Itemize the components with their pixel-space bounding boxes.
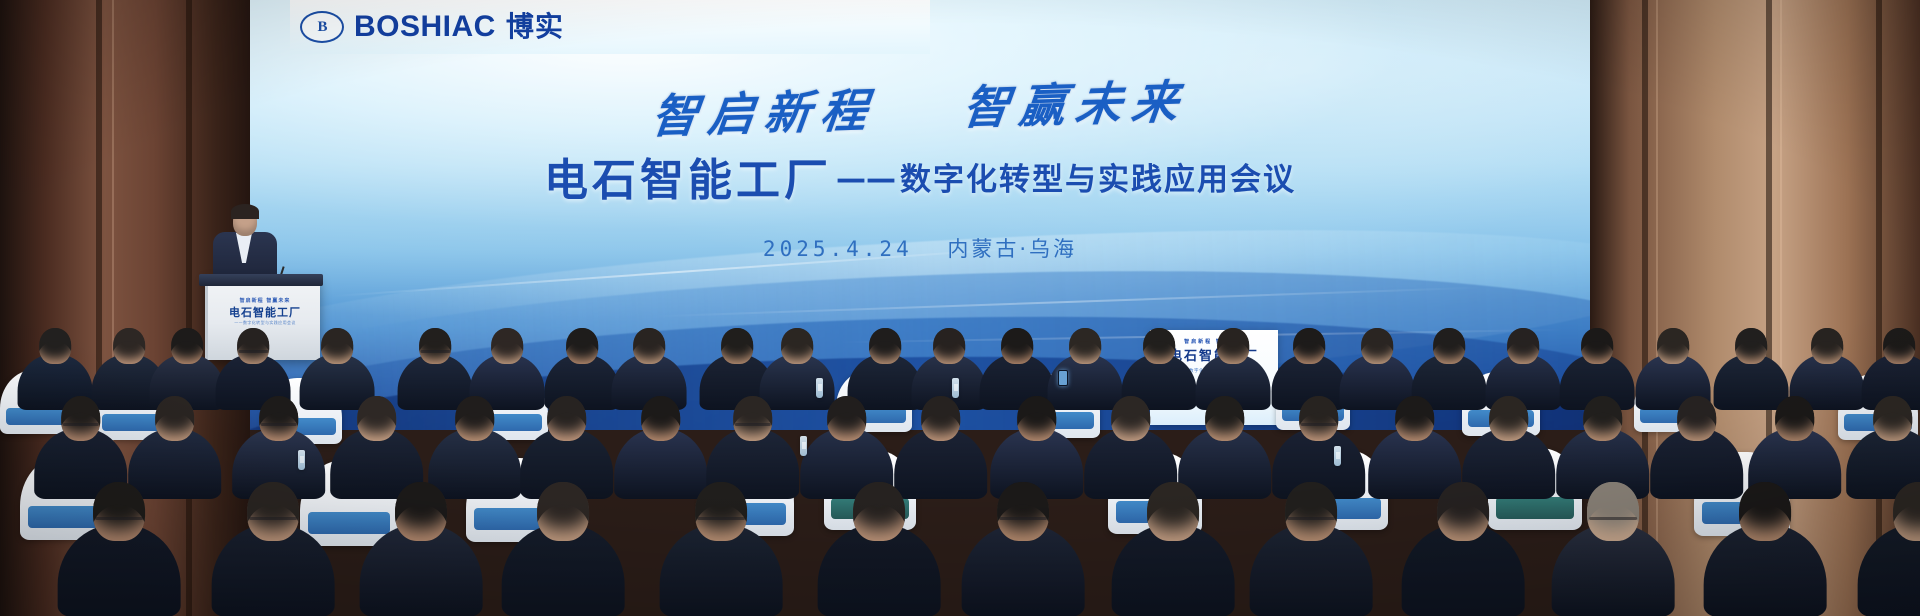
- audience-member: [58, 482, 181, 616]
- eyeglasses-icon: [1301, 423, 1337, 426]
- audience-member-head: [172, 328, 204, 364]
- audience-member-head: [1395, 396, 1435, 441]
- audience-member: [1858, 482, 1920, 616]
- conference-title-main: 电石智能工厂: [544, 159, 832, 203]
- eyeglasses-icon: [63, 423, 99, 426]
- audience-member-head: [322, 328, 354, 364]
- audience-member: [1402, 482, 1525, 616]
- audience-member-head: [238, 328, 270, 364]
- eyeglasses-icon: [95, 517, 143, 520]
- audience-member-head: [492, 328, 524, 364]
- water-bottle: [800, 436, 807, 456]
- audience-member: [212, 482, 335, 616]
- audience-member-head: [547, 396, 587, 441]
- audience-member: [1552, 482, 1675, 616]
- audience-member-head: [1002, 328, 1034, 364]
- audience-member: [502, 482, 625, 616]
- audience-member-head: [395, 482, 447, 541]
- audience-member-head: [1677, 396, 1717, 441]
- audience-member: [1112, 482, 1235, 616]
- audience-member-head: [1582, 328, 1614, 364]
- audience-member-head: [827, 396, 867, 441]
- audience-member-head: [1299, 396, 1339, 441]
- audience-member-head: [1658, 328, 1690, 364]
- audience-member: [1704, 482, 1827, 616]
- audience-member-head: [1205, 396, 1245, 441]
- audience-member-head: [934, 328, 966, 364]
- audience-member-head: [1437, 482, 1489, 541]
- audience-member-head: [1873, 396, 1913, 441]
- audience-member-head: [114, 328, 146, 364]
- water-bottle: [816, 378, 823, 398]
- audience-member-head: [1218, 328, 1250, 364]
- audience-member-head: [870, 328, 902, 364]
- audience-member-head: [40, 328, 72, 364]
- brand-name-en: BOSHIAC: [354, 12, 496, 42]
- audience-member-head: [1884, 328, 1916, 364]
- title-dash: ——: [832, 162, 900, 203]
- audience-member: [962, 482, 1085, 616]
- audience-member-head: [782, 328, 814, 364]
- brand-name-cn: 博实: [506, 13, 564, 41]
- calligraphy-right: 智赢未来: [960, 75, 1191, 135]
- audience-member-head: [634, 328, 666, 364]
- water-bottle: [952, 378, 959, 398]
- audience-member-head: [641, 396, 681, 441]
- eyeglasses-icon: [261, 423, 297, 426]
- audience-member-head: [997, 482, 1049, 541]
- eyeglasses-icon: [697, 517, 745, 520]
- audience-member-head: [1147, 482, 1199, 541]
- eyeglasses-icon: [1589, 517, 1637, 520]
- audience-member-head: [61, 396, 101, 441]
- audience-member-head: [357, 396, 397, 441]
- water-bottle: [298, 450, 305, 470]
- event-date: 2025.4.24: [763, 237, 913, 261]
- eyeglasses-icon: [735, 423, 771, 426]
- eyeglasses-icon: [249, 517, 297, 520]
- audience-member: [660, 482, 783, 616]
- brand-logo-bar: B BOSHIAC 博实: [290, 0, 930, 54]
- audience-member: [818, 482, 941, 616]
- audience-member-head: [1017, 396, 1057, 441]
- audience-member-head: [1583, 396, 1623, 441]
- audience-member-head: [1508, 328, 1540, 364]
- audience-member-head: [853, 482, 905, 541]
- eyeglasses-icon: [239, 350, 268, 353]
- water-bottle: [1334, 446, 1341, 466]
- audience-seating: [0, 300, 1920, 616]
- audience-member: [1250, 482, 1373, 616]
- eyeglasses-icon: [999, 517, 1047, 520]
- screen-headline-block: 智启新程 智赢未来 电石智能工厂 —— 数字化转型与实践应用会议 2025.4.…: [250, 86, 1590, 263]
- audience-member-head: [1434, 328, 1466, 364]
- audience-member: [360, 482, 483, 616]
- audience-member-head: [1812, 328, 1844, 364]
- conference-title-sub: 数字化转型与实践应用会议: [900, 154, 1296, 203]
- event-date-location: 2025.4.24 内蒙古·乌海: [250, 233, 1590, 263]
- calligraphy-line: 智启新程 智赢未来: [250, 67, 1590, 150]
- conference-photo: B BOSHIAC 博实 智启新程 智赢未来 电石智能工厂 —— 数字化转型与实…: [0, 0, 1920, 616]
- audience-member-head: [1362, 328, 1394, 364]
- audience-member-head: [733, 396, 773, 441]
- event-location: 内蒙古·乌海: [947, 237, 1077, 261]
- podium-top-surface: [199, 274, 323, 286]
- speaker-hair: [231, 204, 259, 219]
- calligraphy-left: 智启新程: [649, 83, 880, 143]
- audience-member-head: [921, 396, 961, 441]
- audience-member-head: [455, 396, 495, 441]
- smartphone-screen: [1058, 370, 1068, 386]
- audience-member-head: [1285, 482, 1337, 541]
- audience-member-head: [1587, 482, 1639, 541]
- audience-member-head: [695, 482, 747, 541]
- audience-member-head: [93, 482, 145, 541]
- audience-member-head: [1489, 396, 1529, 441]
- audience-member-head: [420, 328, 452, 364]
- audience-member-head: [1070, 328, 1102, 364]
- audience-member-head: [1294, 328, 1326, 364]
- audience-member-head: [247, 482, 299, 541]
- audience-member-head: [722, 328, 754, 364]
- audience-member-head: [567, 328, 599, 364]
- audience-member-head: [259, 396, 299, 441]
- eyeglasses-icon: [1287, 517, 1335, 520]
- audience-member-head: [1739, 482, 1791, 541]
- audience-member-head: [1144, 328, 1176, 364]
- audience-member-head: [155, 396, 195, 441]
- audience-member-head: [537, 482, 589, 541]
- audience-member-head: [1736, 328, 1768, 364]
- audience-member-head: [1775, 396, 1815, 441]
- boshiac-emblem-icon: B: [300, 11, 344, 43]
- conference-title-row: 电石智能工厂 —— 数字化转型与实践应用会议: [250, 154, 1590, 203]
- eyeglasses-icon: [421, 350, 450, 353]
- audience-member-head: [1111, 396, 1151, 441]
